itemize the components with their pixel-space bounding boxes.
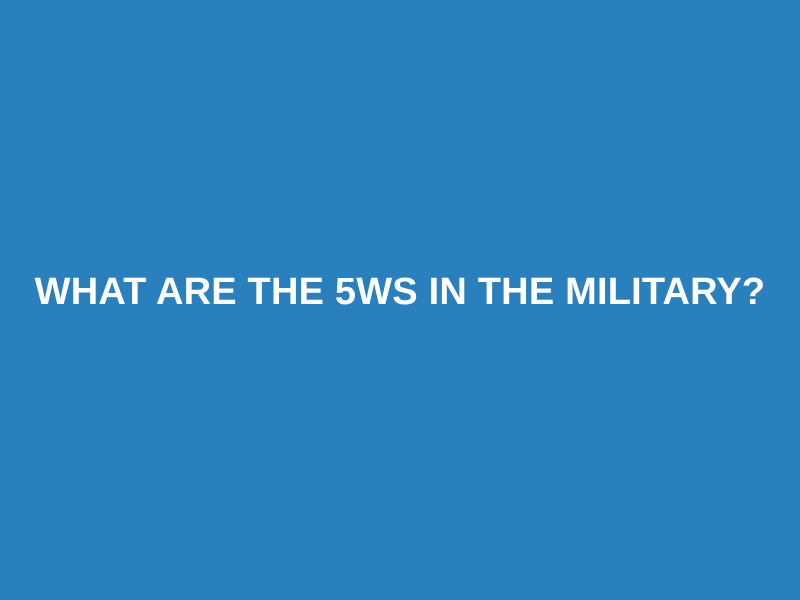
title-block: WHAT ARE THE 5WS IN THE MILITARY? — [0, 270, 800, 315]
page-title: WHAT ARE THE 5WS IN THE MILITARY? — [35, 270, 766, 315]
title-card: WHAT ARE THE 5WS IN THE MILITARY? — [0, 0, 800, 600]
